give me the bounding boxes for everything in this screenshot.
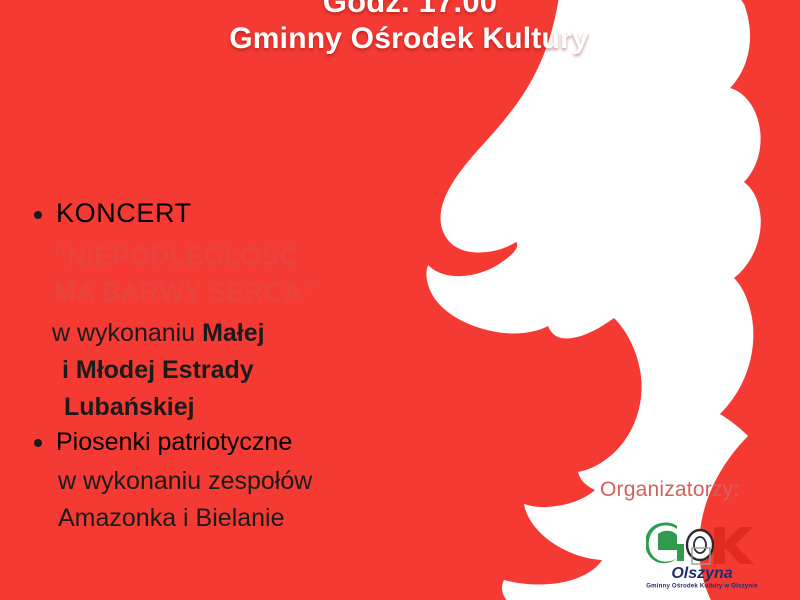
program-item-piosenki-label: Piosenki patriotyczne — [56, 428, 292, 456]
performer-line-1-bold: Małej — [202, 319, 265, 347]
program-item-koncert-label: KONCERT — [56, 198, 192, 228]
bullet-dot-icon — [34, 211, 42, 219]
gok-olszyna-logo: Olszyna Gminny Ośrodek Kultury w Olszyni… — [646, 520, 758, 596]
logo-letter-g — [646, 522, 684, 563]
piosenki-line-3: Amazonka i Bielanie — [22, 506, 442, 531]
organizers-section: Organizatorzy: — [598, 478, 794, 502]
logo-tagline: Gminny Ośrodek Kultury w Olszynie — [625, 582, 780, 589]
program-item-piosenki: Piosenki patriotyczne w wykonaniu zespoł… — [22, 428, 442, 531]
program-list: KONCERT “NIEPODLEGŁOŚĆ MA BARWY SERCA” w… — [22, 198, 442, 531]
organizers-label: Organizatorzy: — [598, 478, 794, 502]
concert-title-line-1: “NIEPODLEGŁOŚĆ — [22, 243, 442, 270]
logo-letter-k — [714, 527, 754, 564]
header-time-line: Godz. 17.00 — [0, 0, 800, 20]
bullet-row-koncert: KONCERT — [22, 198, 442, 229]
program-item-koncert: KONCERT “NIEPODLEGŁOŚĆ MA BARWY SERCA” w… — [22, 198, 442, 420]
bullet-dot-icon — [34, 439, 42, 447]
logo-wordmark: Olszyna — [671, 565, 732, 582]
gok-logo-mark-icon: Olszyna — [646, 520, 758, 582]
logo-letter-o — [687, 530, 713, 560]
performer-line-2: i Młodej Estrady — [22, 358, 442, 383]
piosenki-line-2: w wykonaniu zespołów — [22, 469, 442, 494]
performer-line-1-regular: w wykonaniu — [52, 319, 202, 347]
performer-line-1: w wykonaniu Małej — [22, 321, 442, 346]
performer-line-3: Lubańskiej — [22, 395, 442, 420]
poster-canvas: Godz. 17.00 Gminny Ośrodek Kultury KONCE… — [0, 0, 800, 600]
concert-title-line-2: MA BARWY SERCA” — [22, 279, 442, 306]
header-venue-line: Gminny Ośrodek Kultury — [0, 22, 800, 56]
bullet-row-piosenki: Piosenki patriotyczne — [22, 428, 442, 457]
